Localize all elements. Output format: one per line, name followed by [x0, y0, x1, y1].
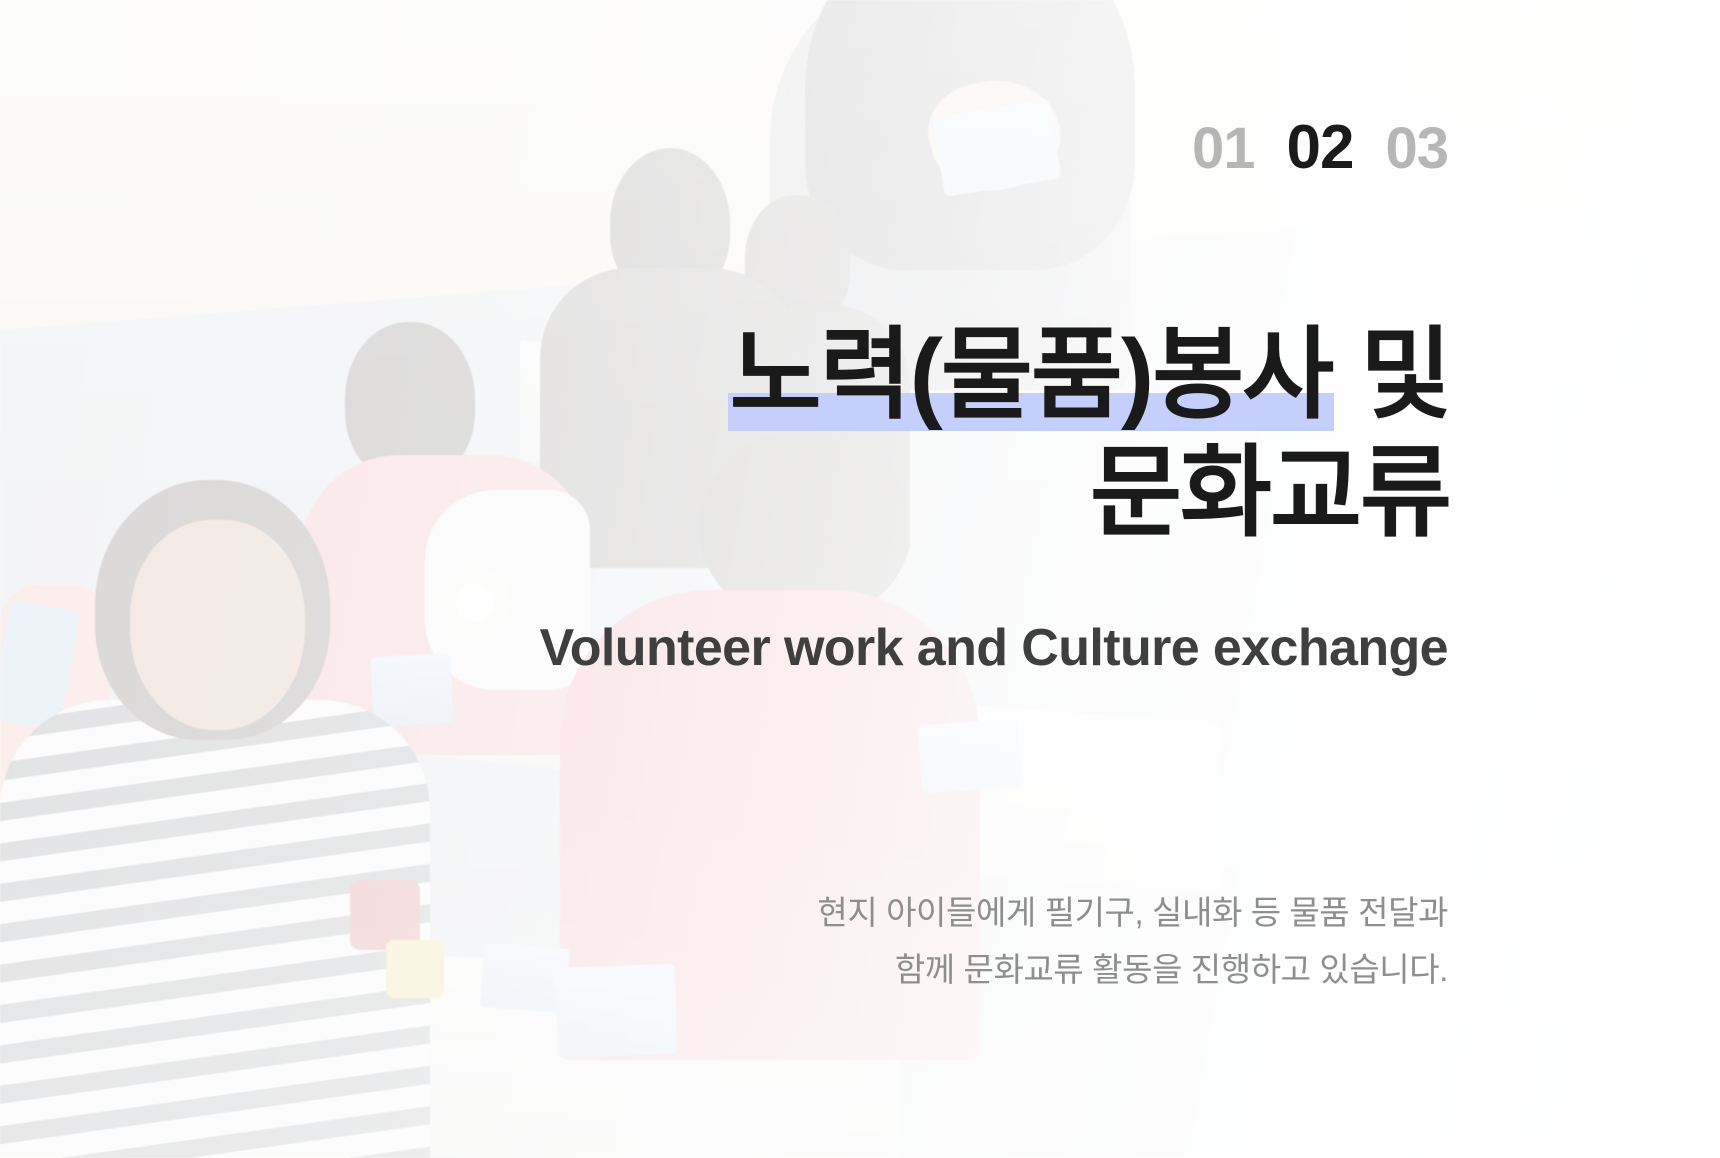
title-line-1-suffix: 및: [1334, 319, 1450, 431]
title-line-1: 노력(물품)봉사 및: [728, 316, 1450, 434]
pager-item-01[interactable]: 01: [1192, 120, 1255, 178]
slide-subtitle: Volunteer work and Culture exchange: [540, 618, 1448, 678]
slide-description: 현지 아이들에게 필기구, 실내화 등 물품 전달과 함께 문화교류 활동을 진…: [817, 885, 1448, 999]
title-highlighted-text: 노력(물품)봉사: [728, 319, 1335, 431]
description-line-2: 함께 문화교류 활동을 진행하고 있습니다.: [817, 942, 1448, 999]
title-line-2: 문화교류: [728, 434, 1450, 552]
pager-item-02[interactable]: 02: [1287, 117, 1354, 179]
description-line-1: 현지 아이들에게 필기구, 실내화 등 물품 전달과: [817, 885, 1448, 942]
slide-pagination: 01 02 03: [1192, 117, 1448, 179]
pager-item-03[interactable]: 03: [1385, 120, 1448, 178]
slide-title: 노력(물품)봉사 및 문화교류: [728, 316, 1450, 552]
slide-content: 01 02 03 노력(물품)봉사 및 문화교류 Volunteer work …: [0, 0, 1720, 1158]
presentation-slide: 01 02 03 노력(물품)봉사 및 문화교류 Volunteer work …: [0, 0, 1720, 1158]
